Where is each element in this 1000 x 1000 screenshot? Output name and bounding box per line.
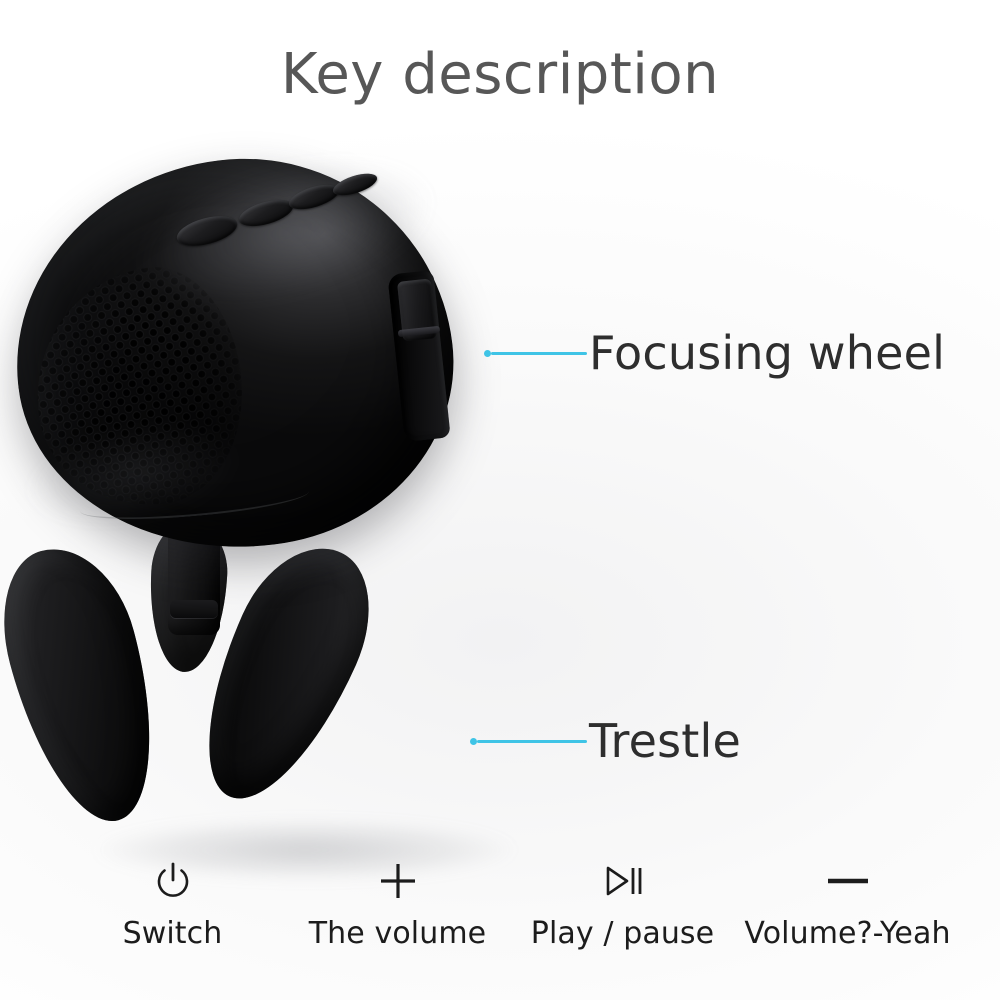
key-legend-row: Switch The volume Play / pause <box>60 852 960 977</box>
key-item-play-pause: Play / pause <box>510 852 735 951</box>
grille-perforations <box>21 257 258 519</box>
power-icon <box>150 852 196 910</box>
product-infographic: Key description Focusing wheel <box>0 0 1000 1000</box>
key-label-volume-down: Volume?-Yeah <box>744 916 950 951</box>
key-label-volume-up: The volume <box>309 916 486 951</box>
minus-icon <box>820 852 876 910</box>
play-pause-icon <box>598 852 648 910</box>
tripod-hub-ring <box>170 600 218 618</box>
plus-icon <box>375 852 421 910</box>
speaker-grille <box>21 257 258 519</box>
key-item-volume-up: The volume <box>285 852 510 951</box>
page-title: Key description <box>0 44 1000 106</box>
callout-label-trestle: Trestle <box>589 718 741 764</box>
key-item-switch: Switch <box>60 852 285 951</box>
callout-anchor-dot <box>484 350 491 357</box>
key-label-play-pause: Play / pause <box>531 916 714 951</box>
key-item-volume-down: Volume?-Yeah <box>735 852 960 951</box>
callout-focusing-wheel: Focusing wheel <box>484 330 945 376</box>
callout-anchor-dot <box>470 738 477 745</box>
key-label-switch: Switch <box>123 916 223 951</box>
callout-leader-line <box>491 352 587 355</box>
callout-label-focusing-wheel: Focusing wheel <box>589 330 945 376</box>
callout-leader-line <box>477 740 587 743</box>
callout-trestle: Trestle <box>470 718 741 764</box>
